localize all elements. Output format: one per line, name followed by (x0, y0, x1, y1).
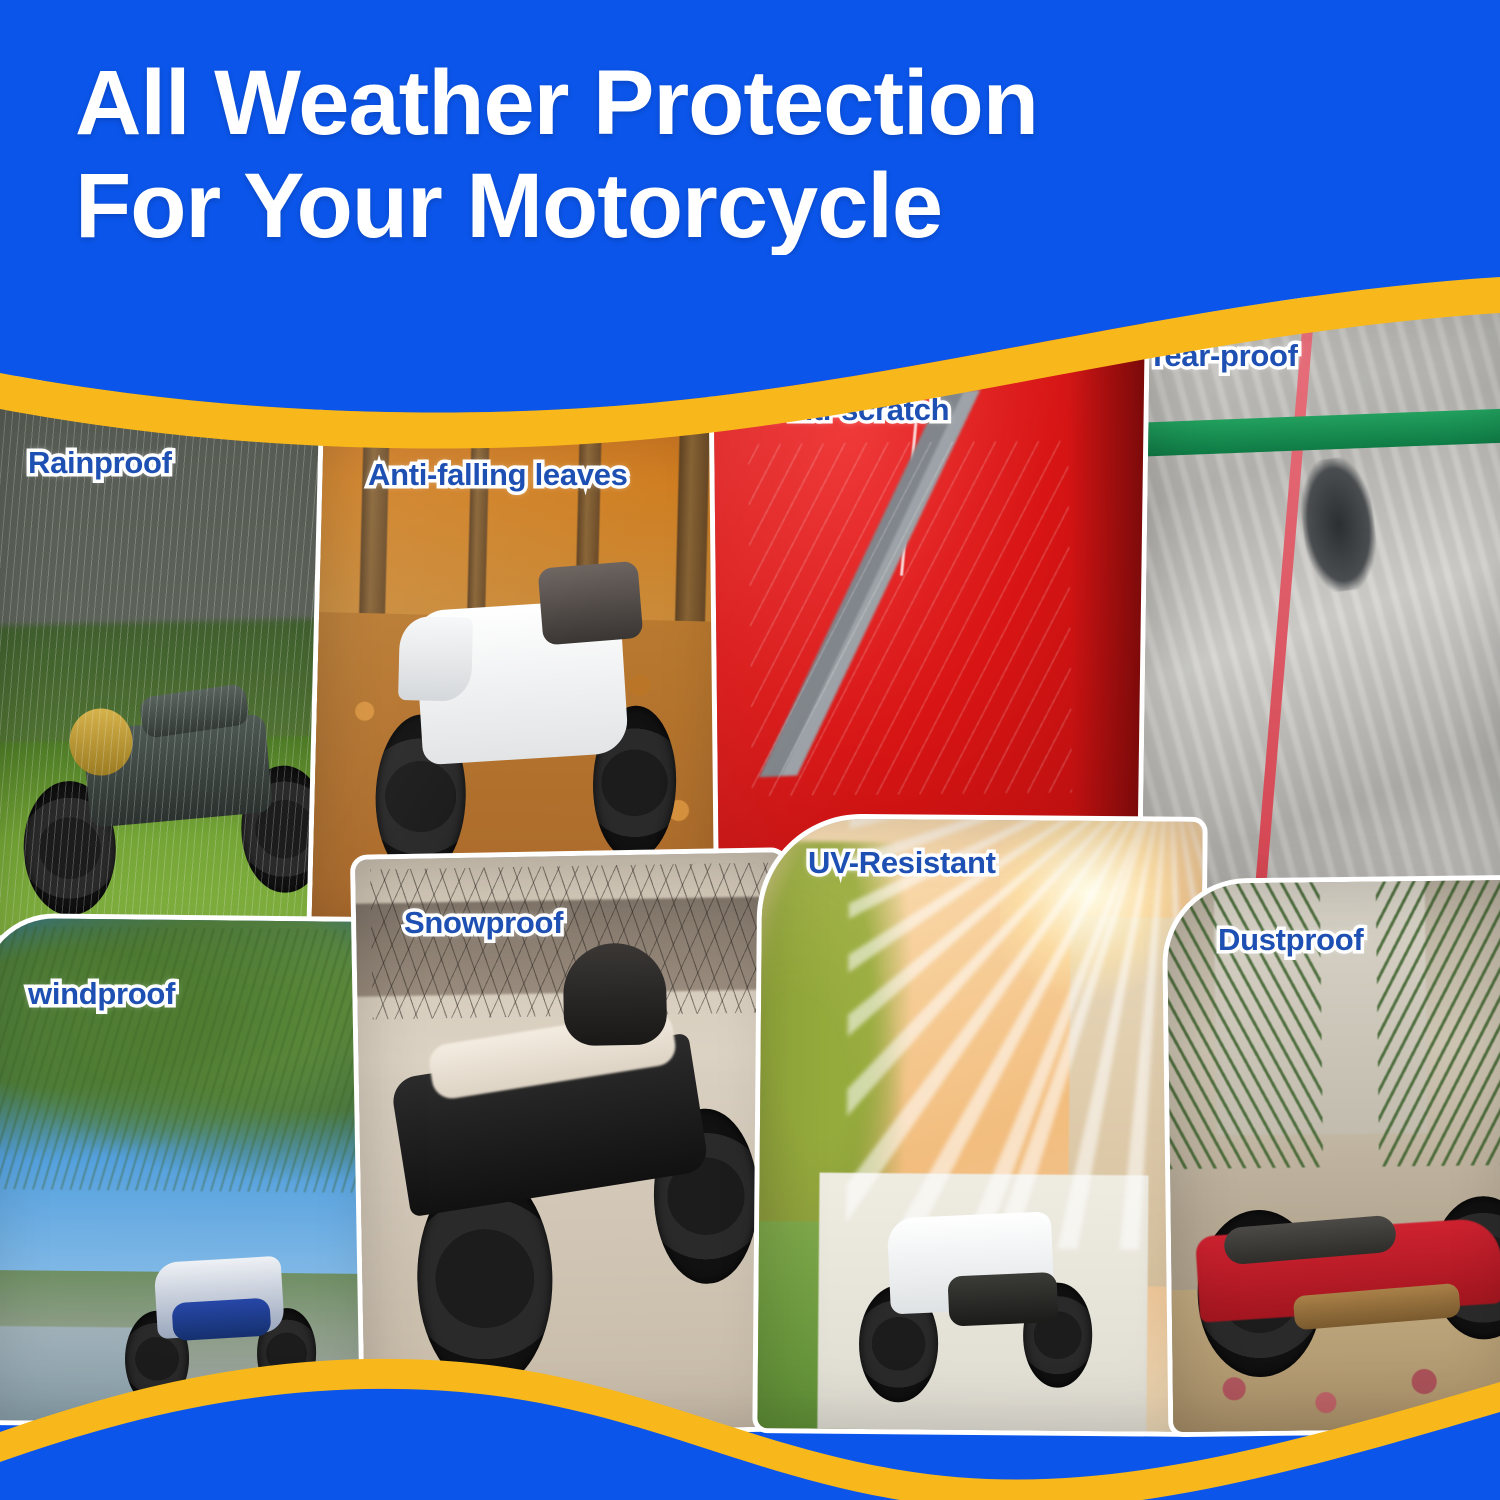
headline-line-2: For Your Motorcycle (75, 155, 1325, 258)
panel-uv-resistant (757, 818, 1202, 1432)
panel-label-anti-scratch: Anti-scratch (772, 392, 949, 428)
panel-tear-proof (1142, 299, 1500, 906)
panel-label-anti-falling-leaves: Anti-falling leaves (368, 457, 628, 493)
panel-label-tear-proof: Tear-proof (1148, 338, 1298, 374)
panel-label-rainproof: Rainproof (28, 445, 172, 481)
uv-resistant-scene (757, 818, 1202, 1432)
panel-label-snowproof: Snowproof (404, 905, 563, 941)
panel-dustproof (1167, 880, 1500, 1432)
page-title: All Weather Protection For Your Motorcyc… (75, 52, 1325, 258)
panel-label-dustproof: Dustproof (1218, 922, 1363, 958)
tear-proof-scene (1142, 299, 1500, 906)
dustproof-scene (1167, 880, 1500, 1432)
panel-label-uv-resistant: UV-Resistant (808, 845, 996, 881)
panel-label-windproof: windproof (28, 976, 175, 1012)
headline-line-1: All Weather Protection (75, 52, 1038, 154)
marketing-banner: All Weather Protection For Your Motorcyc… (0, 0, 1500, 1500)
feature-collage: Rainproof Anti-falling leaves (0, 300, 1500, 1460)
